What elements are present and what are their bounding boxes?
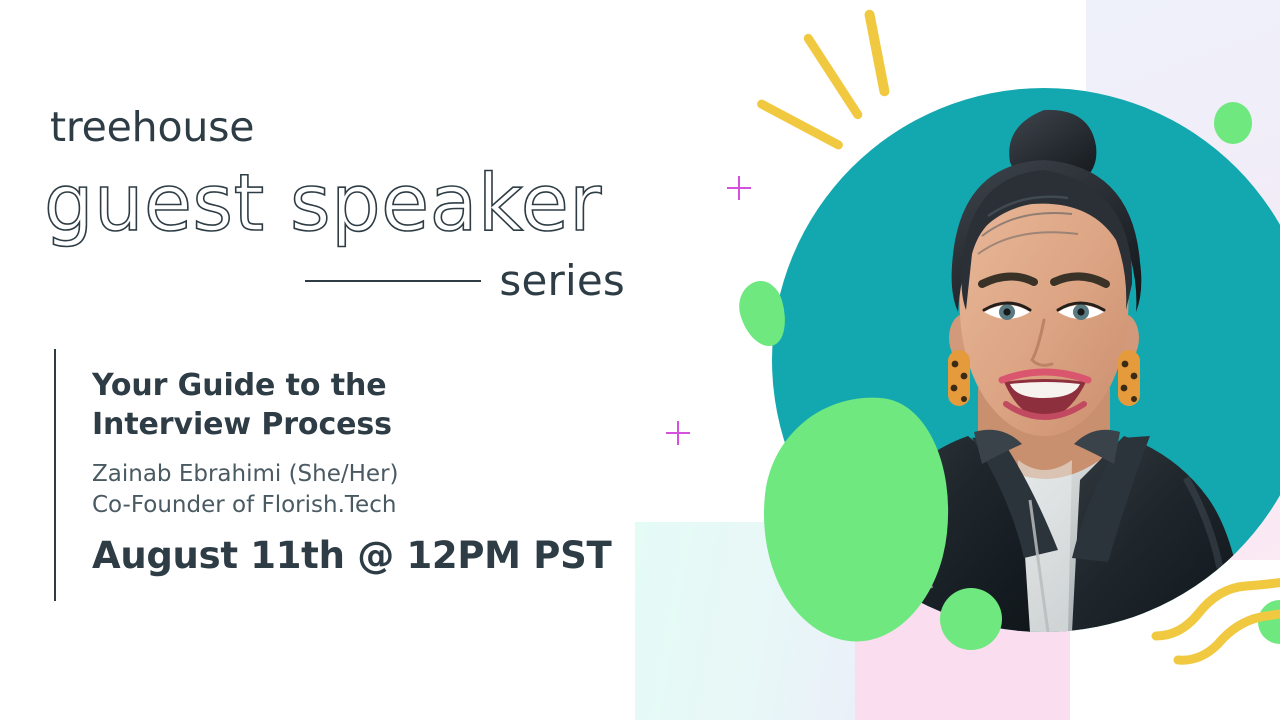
speaker-name: Zainab Ebrahimi (She/Her)	[92, 459, 632, 490]
wavy-line-icon	[1172, 604, 1280, 674]
sparkle-icon	[864, 9, 891, 97]
speaker-role: Co-Founder of Florish.Tech	[92, 490, 632, 521]
series-row: series	[305, 258, 625, 304]
promo-slide: treehouse guest speaker series Your Guid…	[0, 0, 1280, 720]
green-circle-bottom	[940, 588, 1002, 650]
brand-wordmark: treehouse	[50, 107, 254, 148]
series-label: series	[499, 260, 625, 302]
plus-icon	[666, 421, 690, 445]
talk-info-block: Your Guide to the Interview Process Zain…	[92, 366, 632, 578]
vertical-accent-rule	[54, 349, 56, 601]
event-datetime: August 11th @ 12PM PST	[92, 535, 632, 578]
talk-title: Your Guide to the Interview Process	[92, 366, 632, 444]
plus-icon	[727, 176, 751, 200]
headline-outline: guest speaker	[44, 165, 602, 243]
series-divider	[305, 280, 481, 282]
